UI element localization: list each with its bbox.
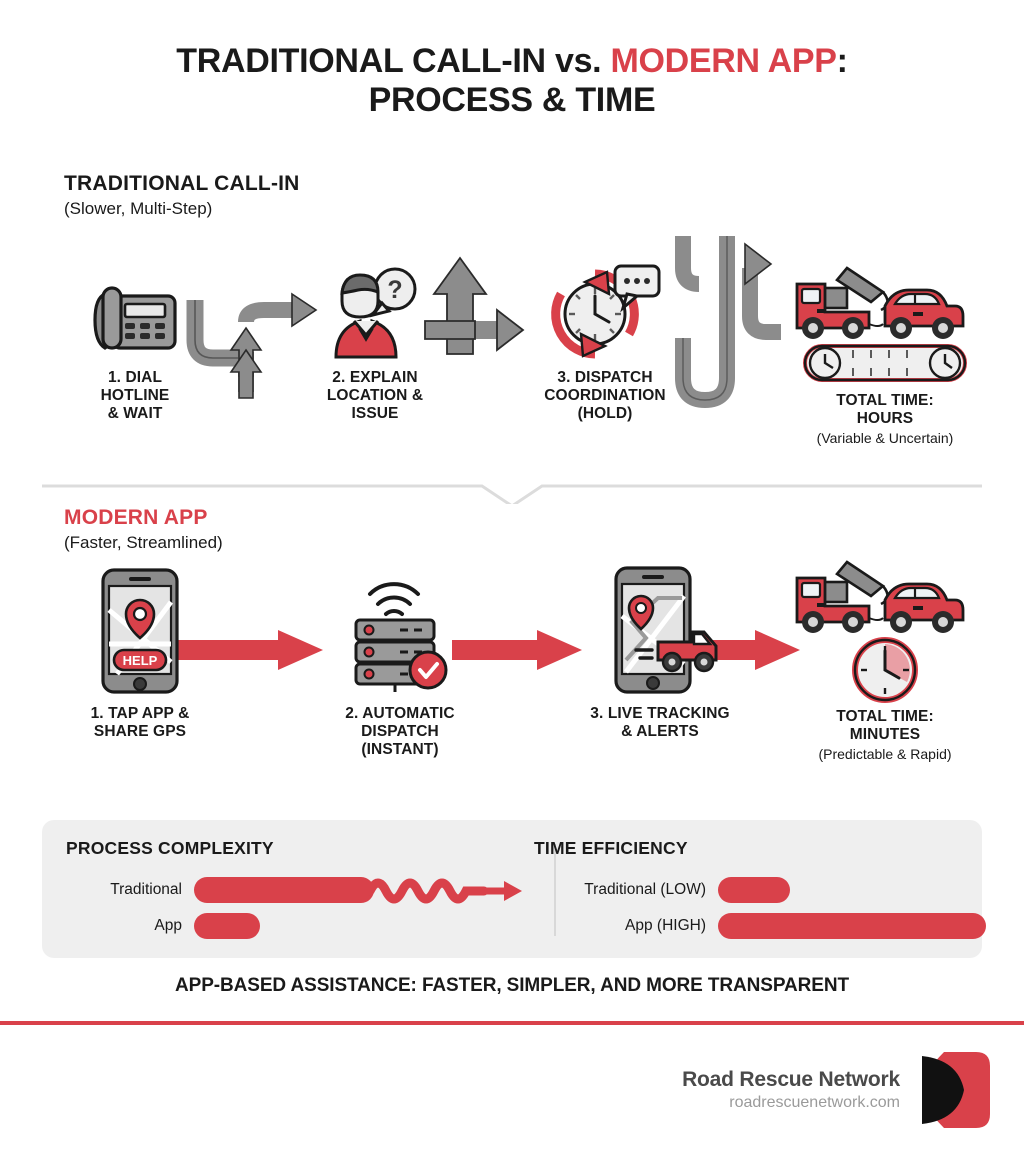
- svg-text:?: ?: [387, 276, 402, 304]
- efficiency-bar-traditional: [718, 877, 790, 903]
- modern-step-1-label: 1. TAP APP &SHARE GPS: [55, 705, 225, 741]
- complexity-bar-traditional: [194, 877, 374, 903]
- modern-step-1: HELP 1. TAP APP &SHARE GPS: [55, 564, 225, 741]
- title-colon: :: [837, 42, 848, 80]
- modern-step-4-label: TOTAL TIME:MINUTES: [785, 708, 985, 744]
- traditional-heading: TRADITIONAL CALL-IN: [64, 172, 300, 196]
- modern-flow-row: HELP 1. TAP APP &SHARE GPS: [0, 578, 1024, 808]
- phone-help-map-icon: HELP: [55, 564, 225, 696]
- process-complexity-title: PROCESS COMPLEXITY: [66, 838, 534, 859]
- help-button-text: HELP: [123, 653, 158, 668]
- modern-section-header: MODERN APP (Faster, Streamlined): [64, 506, 223, 553]
- complexity-row-traditional: Traditional: [66, 872, 534, 908]
- infographic-page: TRADITIONAL CALL-IN vs. MODERN APP: PROC…: [0, 0, 1024, 1154]
- modern-step-3: 3. LIVE TRACKING& ALERTS: [565, 560, 755, 741]
- brand-name: Road Rescue Network: [682, 1068, 900, 1092]
- tagline: APP-BASED ASSISTANCE: FASTER, SIMPLER, A…: [0, 975, 1024, 997]
- traditional-step-2: ? 2. EXPLAINLOCATION &ISSUE: [290, 250, 460, 423]
- time-efficiency-chart: TIME EFFICIENCY Traditional (LOW) App (H…: [534, 838, 982, 944]
- complexity-row-app: App: [66, 908, 534, 944]
- tow-truck-clock-icon: [785, 556, 985, 704]
- tow-truck-car-icon: [780, 250, 990, 386]
- brand-website: roadrescuenetwork.com: [682, 1094, 900, 1112]
- modern-step-4-note: (Predictable & Rapid): [785, 746, 985, 762]
- modern-step-2: 2. AUTOMATICDISPATCH(INSTANT): [310, 564, 490, 759]
- server-wifi-check-icon: [310, 564, 490, 696]
- page-title: TRADITIONAL CALL-IN vs. MODERN APP: PROC…: [0, 0, 1024, 120]
- footer: Road Rescue Network roadrescuenetwork.co…: [682, 1052, 990, 1128]
- efficiency-label-app: App (HIGH): [534, 917, 718, 935]
- section-divider: [42, 474, 982, 504]
- phone-live-tracking-icon: [565, 560, 755, 696]
- traditional-step-3-label: 3. DISPATCHCOORDINATION(HOLD): [505, 369, 705, 423]
- complexity-label-traditional: Traditional: [66, 881, 194, 899]
- traditional-step-1: 1. DIALHOTLINE& WAIT: [40, 250, 230, 423]
- modern-step-3-label: 3. LIVE TRACKING& ALERTS: [565, 705, 755, 741]
- traditional-flow-row: 1. DIALHOTLINE& WAIT ? 2. EXPLAINLOCATIO…: [0, 250, 1024, 460]
- modern-heading: MODERN APP: [64, 506, 223, 530]
- traditional-step-1-label: 1. DIALHOTLINE& WAIT: [40, 369, 230, 423]
- title-line-2: PROCESS & TIME: [0, 81, 1024, 120]
- traditional-subheading: (Slower, Multi-Step): [64, 199, 300, 219]
- desk-phone-icon: [40, 250, 230, 360]
- modern-step-2-label: 2. AUTOMATICDISPATCH(INSTANT): [310, 705, 490, 759]
- title-part-traditional: TRADITIONAL CALL-IN vs.: [176, 42, 610, 80]
- traditional-step-2-label: 2. EXPLAINLOCATION &ISSUE: [290, 369, 460, 423]
- traditional-step-4-note: (Variable & Uncertain): [780, 430, 990, 446]
- footer-rule: [0, 1021, 1024, 1025]
- efficiency-row-traditional: Traditional (LOW): [534, 872, 982, 908]
- traditional-step-3: 3. DISPATCHCOORDINATION(HOLD): [505, 250, 705, 423]
- efficiency-bar-app: [718, 913, 986, 939]
- time-efficiency-title: TIME EFFICIENCY: [534, 838, 982, 859]
- title-part-modern: MODERN APP: [610, 42, 836, 80]
- clock-loop-chat-icon: [505, 250, 705, 360]
- process-complexity-chart: PROCESS COMPLEXITY Traditional App: [66, 838, 534, 944]
- complexity-bar-app: [194, 913, 260, 939]
- complexity-squiggle-arrow: [368, 873, 528, 909]
- person-question-icon: ?: [290, 250, 460, 360]
- modern-step-4: TOTAL TIME:MINUTES (Predictable & Rapid): [785, 556, 985, 762]
- efficiency-row-app: App (HIGH): [534, 908, 982, 944]
- complexity-label-app: App: [66, 917, 194, 935]
- traditional-section-header: TRADITIONAL CALL-IN (Slower, Multi-Step): [64, 172, 300, 219]
- road-rescue-network-logo: [914, 1052, 990, 1128]
- traditional-step-4: TOTAL TIME:HOURS (Variable & Uncertain): [780, 250, 990, 446]
- efficiency-label-traditional: Traditional (LOW): [534, 881, 718, 899]
- traditional-step-4-label: TOTAL TIME:HOURS: [780, 392, 990, 428]
- modern-subheading: (Faster, Streamlined): [64, 533, 223, 553]
- comparison-panel: PROCESS COMPLEXITY Traditional App: [42, 820, 982, 958]
